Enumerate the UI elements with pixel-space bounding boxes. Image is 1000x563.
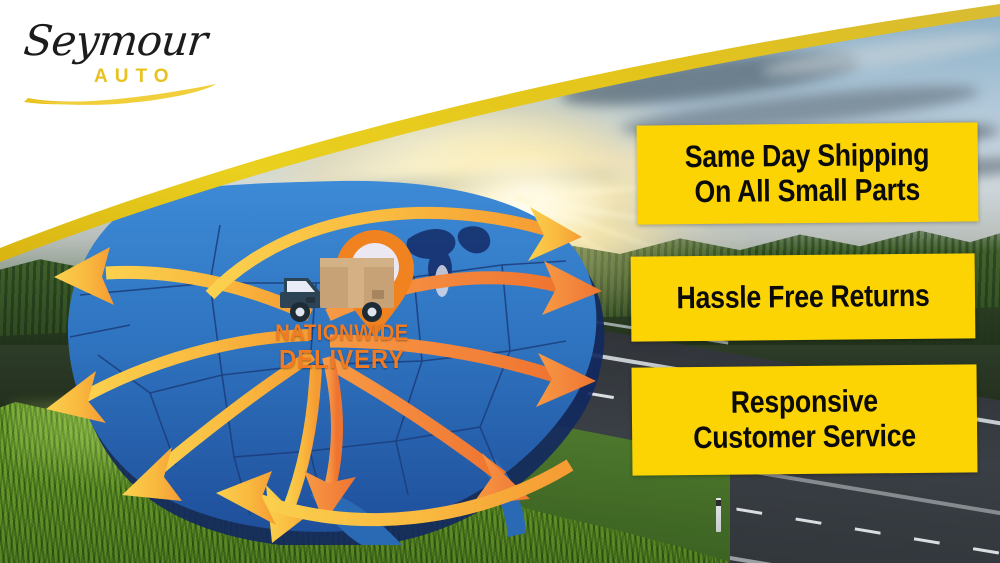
feature-box-same-day-shipping[interactable]: Same Day Shipping On All Small Parts (637, 122, 979, 224)
roadside-marker-post (716, 498, 721, 532)
feature-2-line-1: Hassle Free Returns (676, 279, 929, 316)
feature-box-hassle-free-returns[interactable]: Hassle Free Returns (631, 253, 976, 341)
logo-swoosh-icon (18, 72, 223, 108)
delivery-line-2: DELIVERY (268, 346, 415, 372)
nationwide-delivery-badge: NATIONWIDE DELIVERY (258, 228, 438, 378)
feature-1-line-2: On All Small Parts (695, 172, 921, 209)
brand-logo-name: Seymour (21, 16, 209, 65)
promo-banner: NATIONWIDE DELIVERY Seymour AUTO Same Da… (0, 0, 1000, 563)
feature-box-responsive-customer-service[interactable]: Responsive Customer Service (631, 364, 977, 475)
delivery-line-1: NATIONWIDE (268, 322, 415, 344)
delivery-truck-icon (276, 250, 406, 330)
feature-3-line-2: Customer Service (693, 419, 916, 456)
brand-logo[interactable]: Seymour AUTO (18, 14, 223, 104)
feature-3-line-1: Responsive (731, 385, 878, 421)
feature-1-line-1: Same Day Shipping (685, 138, 930, 175)
delivery-text-block: NATIONWIDE DELIVERY (262, 322, 422, 372)
